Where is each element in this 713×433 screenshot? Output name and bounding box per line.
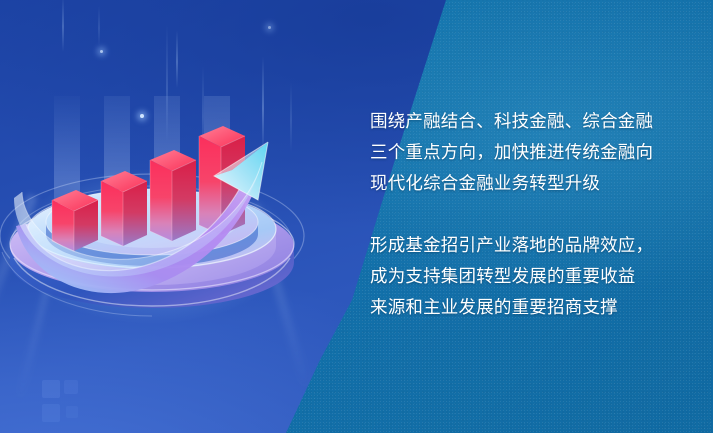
growth-chart-illustration xyxy=(0,96,330,326)
paragraph-1-line-3: 现代化综合金融业务转型升级 xyxy=(370,168,690,199)
bar-1 xyxy=(52,190,98,251)
grid-square-icon xyxy=(66,406,78,418)
sparkle-dot-icon xyxy=(268,26,271,29)
grid-square-icon xyxy=(42,380,60,398)
paragraph-2-line-2: 成为支持集团转型发展的重要收益 xyxy=(370,261,690,292)
grid-square-icon xyxy=(42,404,60,422)
paragraph-1-line-1: 围绕产融结合、科技金融、综合金融 xyxy=(370,106,690,137)
copy-block: 围绕产融结合、科技金融、综合金融 三个重点方向，加快推进传统金融向 现代化综合金… xyxy=(370,106,690,323)
bar-2 xyxy=(101,171,147,246)
paragraph-2-line-3: 来源和主业发展的重要招商支撑 xyxy=(370,292,690,323)
sparkle-dot-icon xyxy=(100,50,103,53)
light-streak-icon xyxy=(98,6,100,46)
slide-canvas: 围绕产融结合、科技金融、综合金融 三个重点方向，加快推进传统金融向 现代化综合金… xyxy=(0,0,713,433)
bar-3 xyxy=(150,150,196,241)
paragraph-1: 围绕产融结合、科技金融、综合金融 三个重点方向，加快推进传统金融向 现代化综合金… xyxy=(370,106,690,199)
growth-chart-svg xyxy=(0,96,330,326)
grid-square-icon xyxy=(64,380,78,394)
light-streak-icon xyxy=(62,0,64,52)
paragraph-2: 形成基金招引产业落地的品牌效应， 成为支持集团转型发展的重要收益 来源和主业发展… xyxy=(370,230,690,323)
light-streak-icon xyxy=(176,30,178,88)
paragraph-2-line-1: 形成基金招引产业落地的品牌效应， xyxy=(370,230,690,261)
paragraph-1-line-2: 三个重点方向，加快推进传统金融向 xyxy=(370,137,690,168)
